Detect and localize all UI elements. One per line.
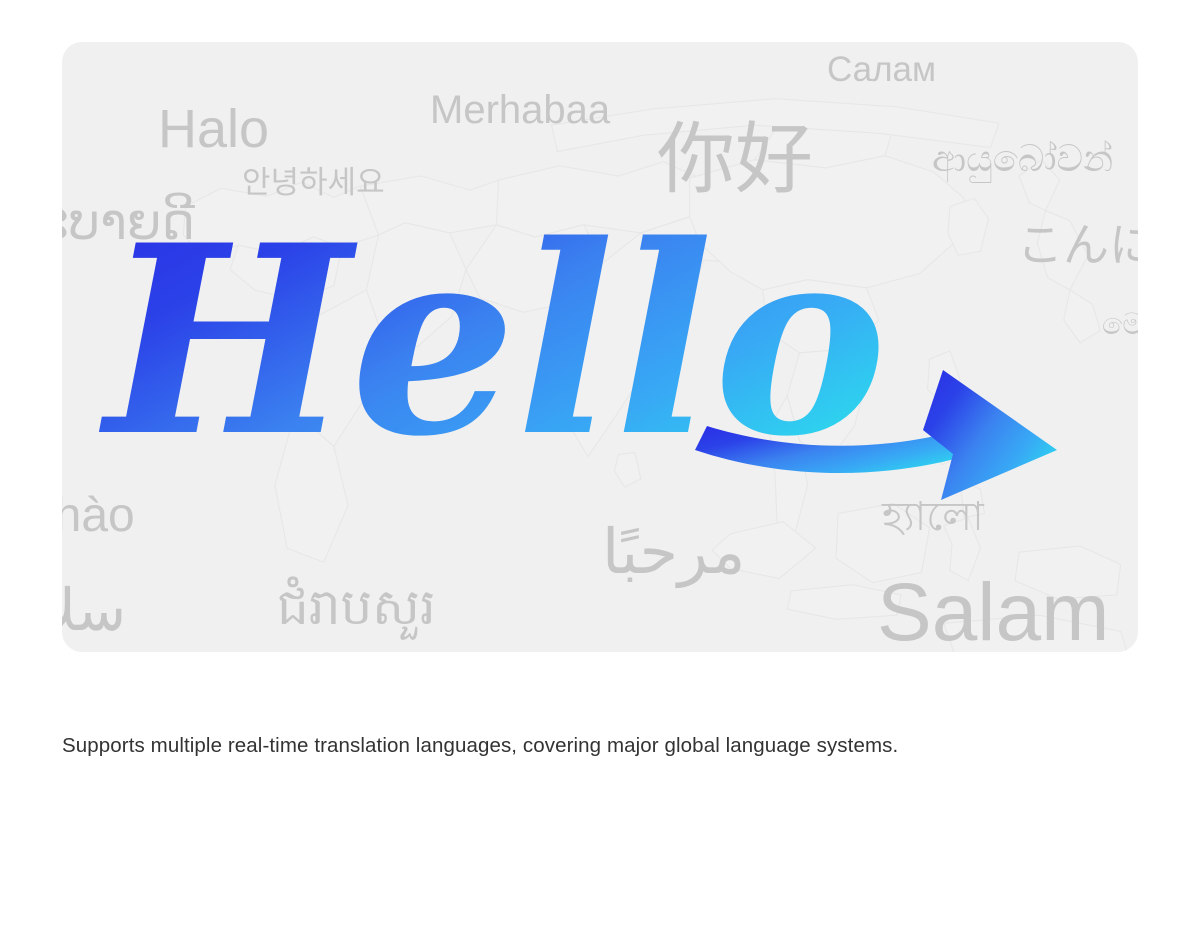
greeting-word: ជំរាបសួរ — [277, 582, 436, 632]
greeting-word: سلام — [62, 582, 126, 640]
greeting-word: ආයුබෝවන් — [932, 140, 1113, 177]
greeting-word: مرحبًا — [602, 522, 745, 584]
greeting-word: Салам — [827, 52, 936, 87]
greeting-word: මෙ — [1102, 310, 1138, 340]
greeting-word: Halo — [158, 102, 269, 156]
card-caption: Supports multiple real-time translation … — [62, 731, 1142, 761]
greeting-word: Salam — [877, 572, 1109, 652]
language-hero-card: HaloMerhabaaСалам안녕하세요你好ආයුබෝවන්ສະບາຍດີこ… — [62, 42, 1138, 652]
hello-wordmark: Hello — [95, 182, 1105, 512]
greeting-word: Merhabaa — [430, 90, 610, 130]
